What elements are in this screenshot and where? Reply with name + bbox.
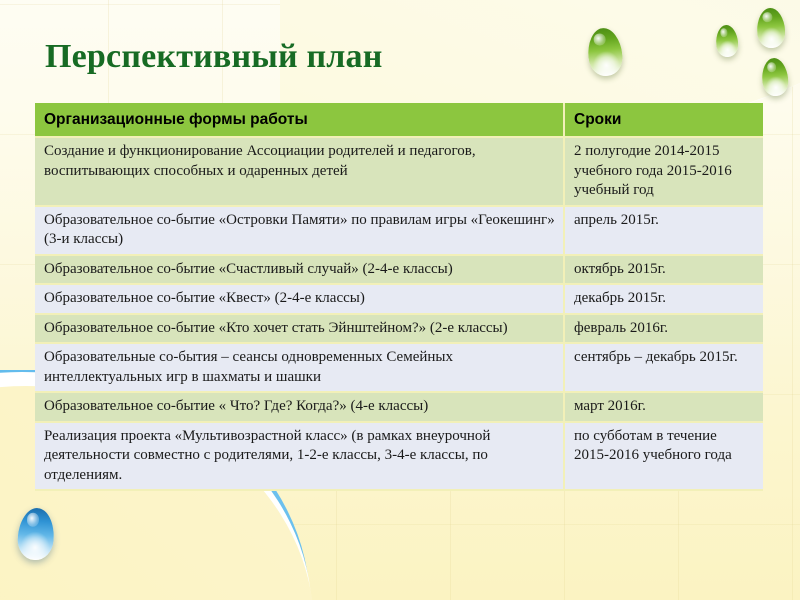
cell-term: декабрь 2015г.: [565, 285, 763, 315]
column-header-activity: Организационные формы работы: [35, 103, 565, 138]
droplet-body: [586, 26, 625, 77]
cell-activity: Образовательное со-бытие «Квест» (2-4-е …: [35, 285, 565, 315]
droplet-highlight: [762, 12, 772, 23]
cell-activity: Образовательное со-бытие «Кто хочет стат…: [35, 315, 565, 345]
table-row: Образовательное со-бытие « Что? Где? Ког…: [35, 393, 763, 423]
cell-term: февраль 2016г.: [565, 315, 763, 345]
droplet-highlight: [766, 62, 776, 73]
water-droplet-green-lower-icon: [760, 57, 789, 97]
cell-term: октябрь 2015г.: [565, 256, 763, 286]
table-row: Образовательное со-бытие «Квест» (2-4-е …: [35, 285, 763, 315]
table-head: Организационные формы работы Сроки: [35, 103, 763, 138]
column-header-term: Сроки: [565, 103, 763, 138]
droplet-highlight: [720, 28, 728, 37]
table-row: Образовательное со-бытие «Счастливый слу…: [35, 256, 763, 286]
table-row: Создание и функционирование Ассоциации р…: [35, 138, 763, 207]
slide-canvas: Перспективный план Организационные формы…: [0, 0, 800, 600]
table-header-row: Организационные формы работы Сроки: [35, 103, 763, 138]
droplet-highlight: [26, 513, 39, 527]
cell-term: 2 полугодие 2014-2015 учебного года 2015…: [565, 138, 763, 207]
cell-term: сентябрь – декабрь 2015г.: [565, 344, 763, 393]
cell-term: март 2016г.: [565, 393, 763, 423]
table-row: Образовательные со-бытия – сеансы одновр…: [35, 344, 763, 393]
droplet-body: [16, 507, 56, 561]
table-body: Создание и функционирование Ассоциации р…: [35, 138, 763, 491]
table-row: Образовательное со-бытие «Островки Памят…: [35, 207, 763, 256]
droplet-body: [715, 24, 739, 57]
cell-activity: Образовательные со-бытия – сеансы одновр…: [35, 344, 565, 393]
water-droplet-green-small-icon: [715, 24, 739, 57]
droplet-body: [760, 57, 789, 97]
cell-activity: Создание и функционирование Ассоциации р…: [35, 138, 565, 207]
water-droplet-blue-icon: [16, 507, 56, 561]
cell-term: апрель 2015г.: [565, 207, 763, 256]
table-row: Образовательное со-бытие «Кто хочет стат…: [35, 315, 763, 345]
cell-activity: Образовательное со-бытие «Счастливый слу…: [35, 256, 565, 286]
water-droplet-green-large-icon: [586, 26, 625, 77]
table-row: Реализация проекта «Мультивозрастной кла…: [35, 423, 763, 492]
droplet-highlight: [594, 33, 607, 47]
cell-activity: Образовательное со-бытие « Что? Где? Ког…: [35, 393, 565, 423]
cell-activity: Образовательное со-бытие «Островки Памят…: [35, 207, 565, 256]
slide-title: Перспективный план: [45, 38, 383, 76]
perspective-plan-table: Организационные формы работы Сроки Созда…: [35, 103, 763, 491]
droplet-body: [756, 7, 786, 48]
cell-activity: Реализация проекта «Мультивозрастной кла…: [35, 423, 565, 492]
water-droplet-green-medium-icon: [756, 7, 786, 48]
cell-term: по субботам в течение 2015-2016 учебного…: [565, 423, 763, 492]
